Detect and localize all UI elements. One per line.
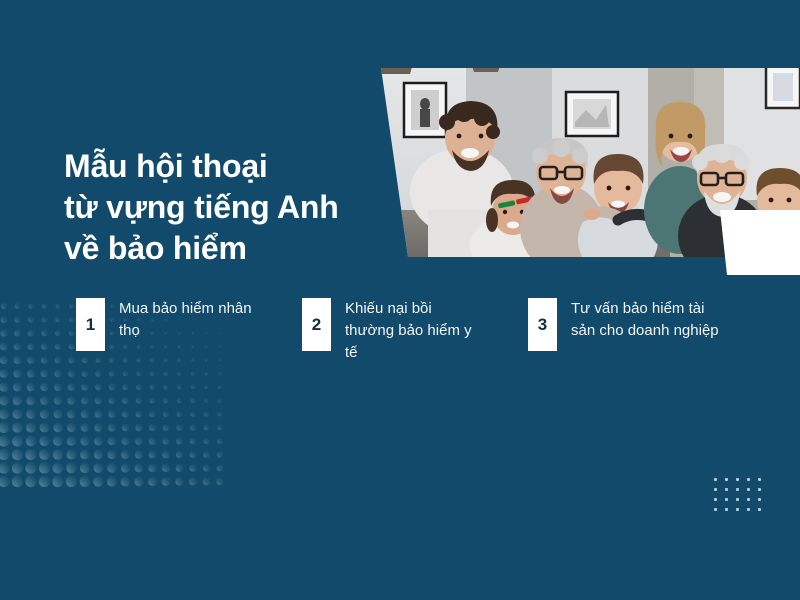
page-title: Mẫu hội thoại từ vựng tiếng Anh về bảo h… [64,146,394,269]
dot-grid [714,478,764,512]
slide-root: Mẫu hội thoại từ vựng tiếng Anh về bảo h… [0,0,800,600]
item-label: Mua bảo hiểm nhân thọ [119,298,259,342]
item-number-badge: 1 [76,298,105,351]
topic-list: 1 Mua bảo hiểm nhân thọ 2 Khiếu nại bồi … [76,298,776,363]
list-item[interactable]: 3 Tư vấn bảo hiểm tài sản cho doanh nghi… [528,298,754,363]
list-item[interactable]: 2 Khiếu nại bồi thường bảo hiểm y tế [302,298,528,363]
item-label: Khiếu nại bồi thường bảo hiểm y tế [345,298,475,363]
list-item[interactable]: 1 Mua bảo hiểm nhân thọ [76,298,302,363]
item-number-badge: 2 [302,298,331,351]
item-label: Tư vấn bảo hiểm tài sản cho doanh nghiệp [571,298,721,342]
item-number-badge: 3 [528,298,557,351]
